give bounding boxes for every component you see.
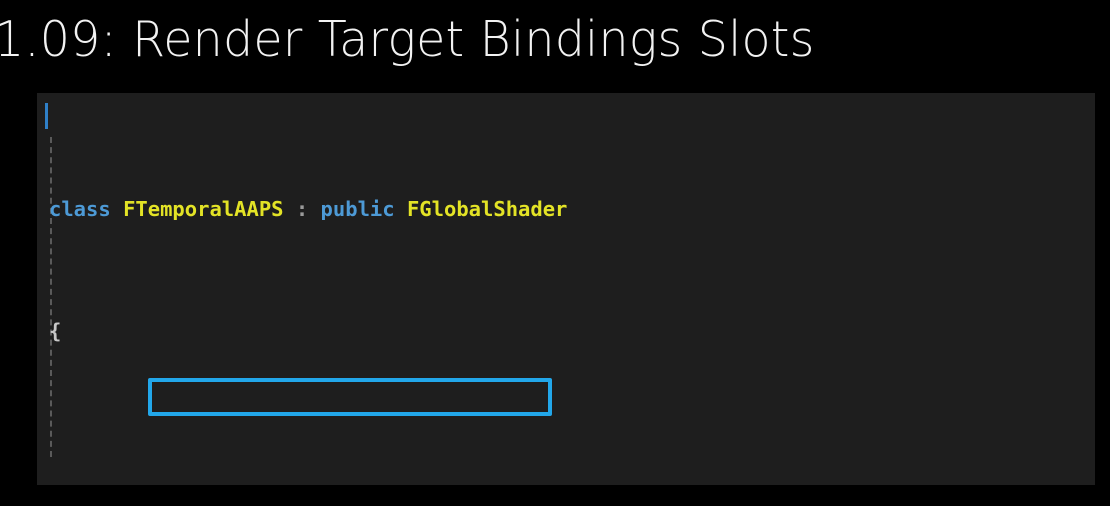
code-editor-panel: class FTemporalAAPS : public FGlobalShad… — [37, 93, 1095, 485]
type-ftemporalaaps: FTemporalAAPS — [123, 197, 283, 221]
space — [111, 197, 123, 221]
code-content: class FTemporalAAPS : public FGlobalShad… — [49, 102, 1024, 485]
code-line-1: class FTemporalAAPS : public FGlobalShad… — [49, 194, 1024, 225]
space — [284, 197, 296, 221]
page-title: 1.09: Render Target Bindings Slots — [0, 2, 1071, 78]
type-fglobalshader: FGlobalShader — [407, 197, 567, 221]
colon-operator: : — [296, 197, 308, 221]
code-line-2: { — [49, 316, 1024, 347]
keyword-public: public — [321, 197, 395, 221]
brace-open: { — [49, 319, 61, 343]
keyword-class: class — [49, 197, 111, 221]
space — [395, 197, 407, 221]
space — [308, 197, 320, 221]
gutter-change-marker — [45, 103, 48, 129]
code-line-3-blank — [49, 438, 1024, 469]
